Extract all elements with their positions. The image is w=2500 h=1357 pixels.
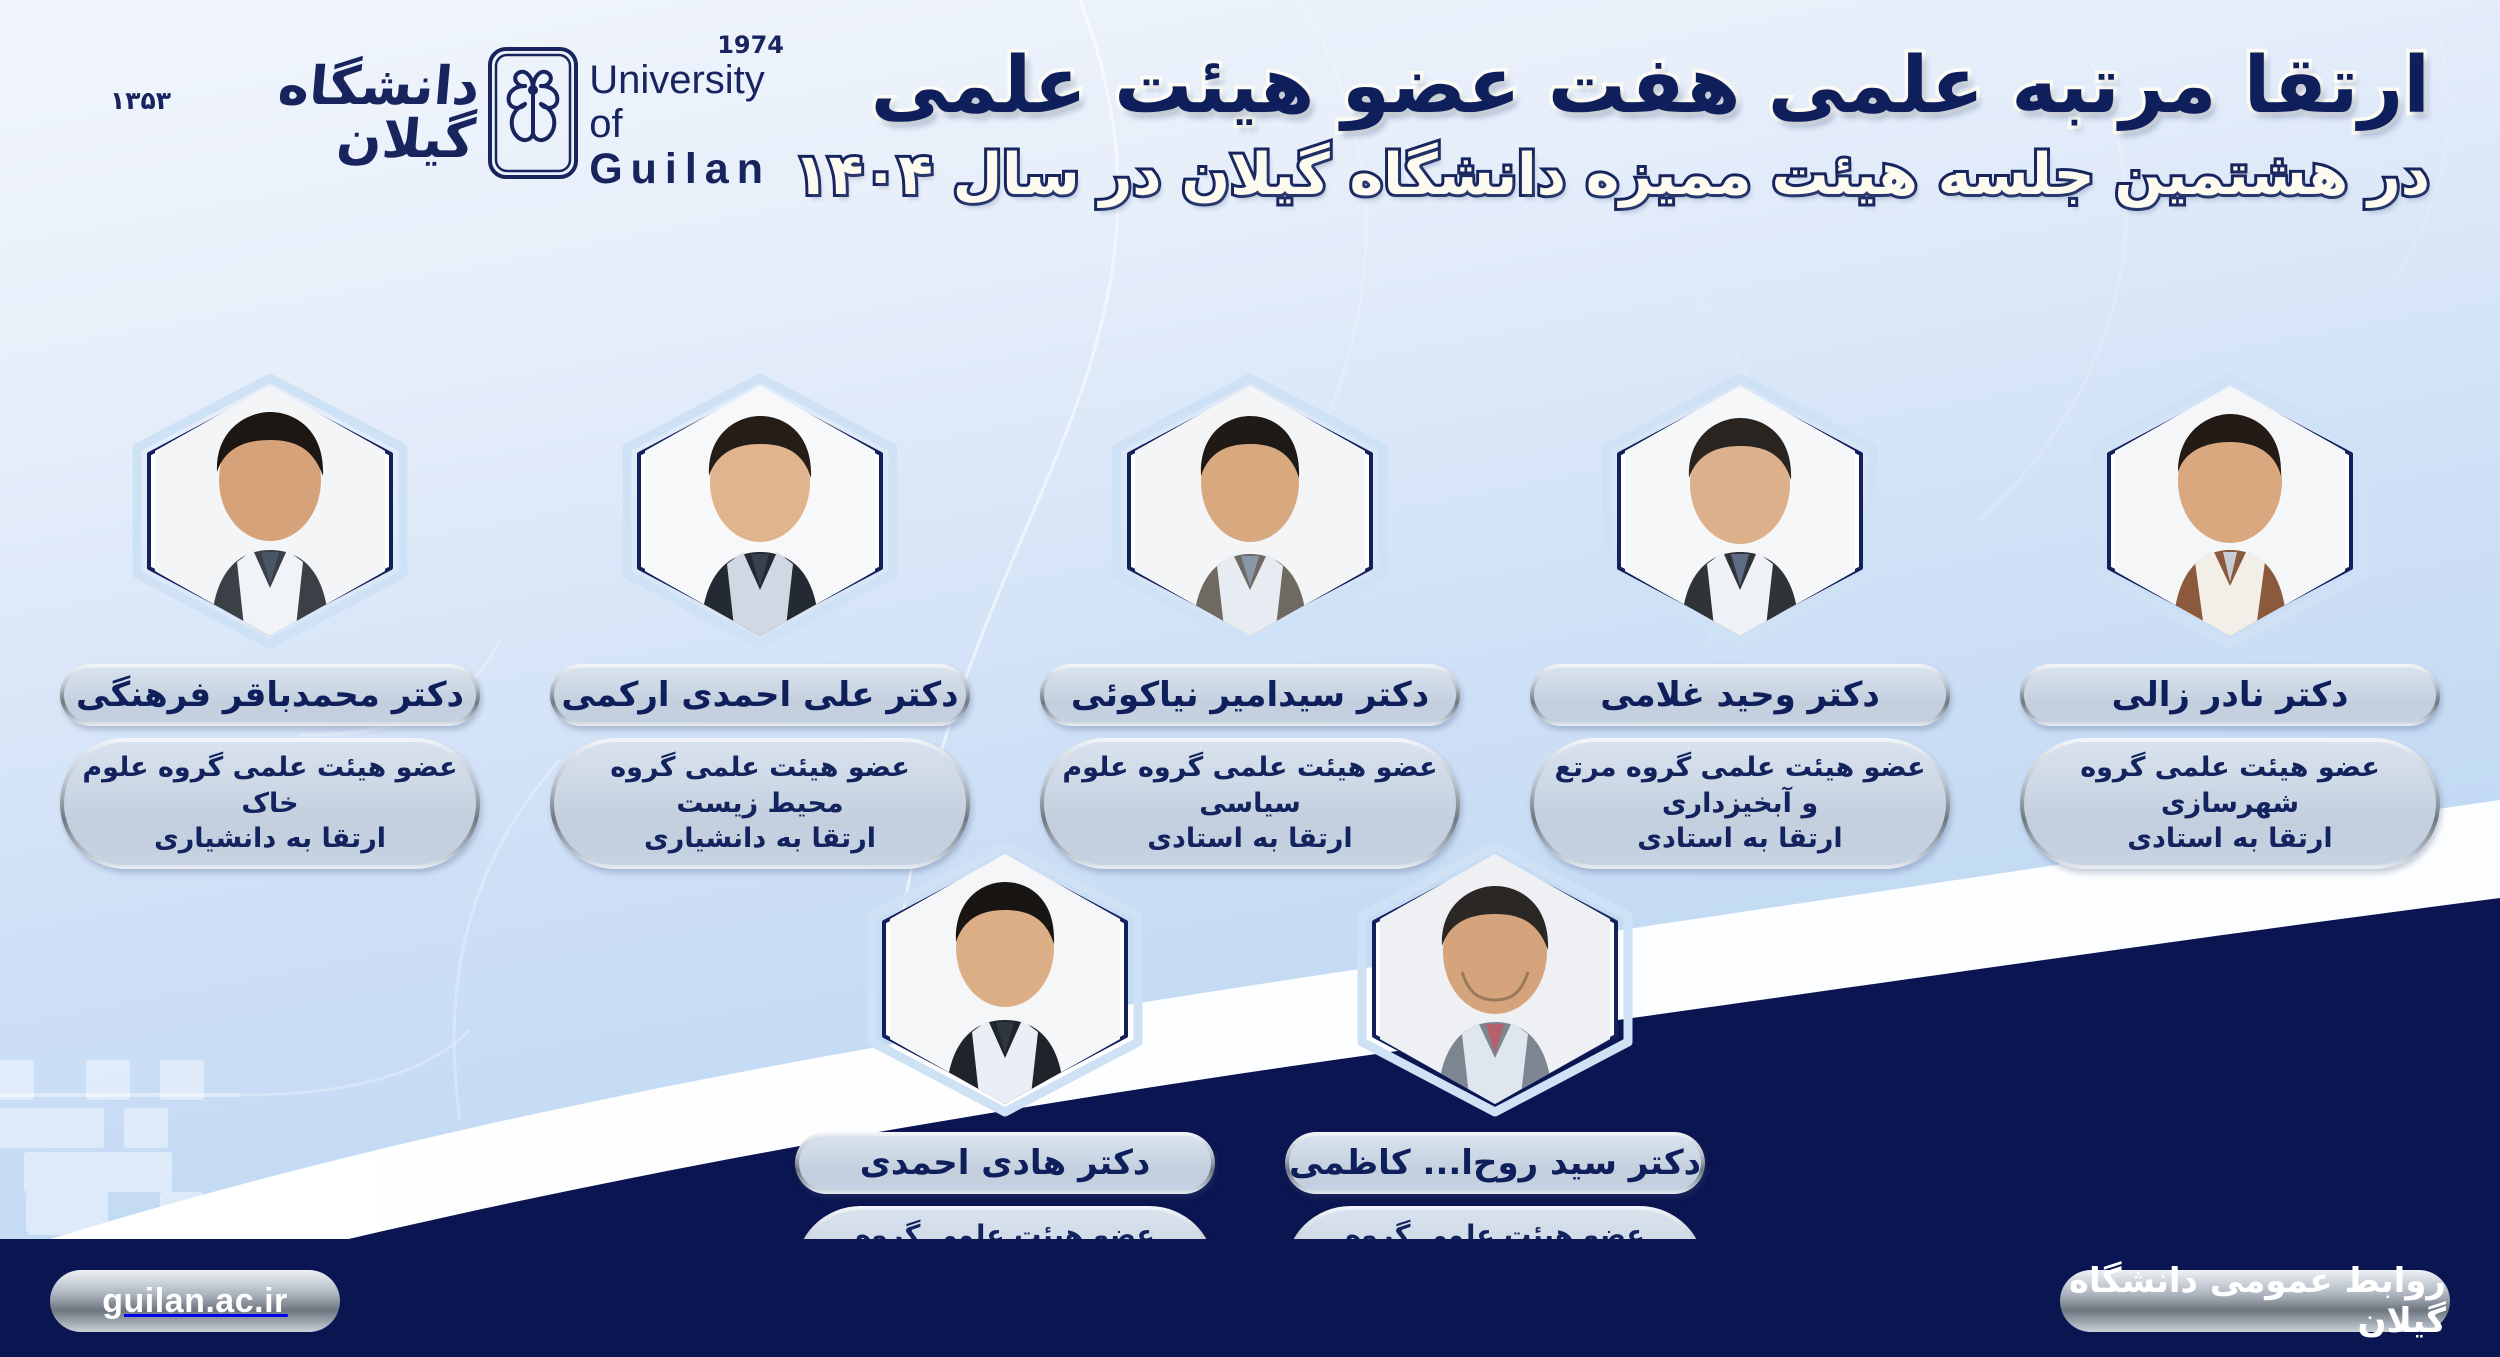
person-photo-frame (1350, 840, 1640, 1118)
person-card[interactable]: دکتر نادر زالی عضو هیئت علمی گروه شهرساز… (2010, 372, 2450, 869)
logo-english-line1: University of (589, 58, 784, 146)
person-photo-frame (2085, 372, 2375, 650)
person-name: دکتر نادر زالی (2112, 675, 2349, 715)
person-name-badge: دکتر نادر زالی (2020, 664, 2440, 726)
person-photo-frame (125, 372, 415, 650)
person-photo-frame (1595, 372, 1885, 650)
person-name-badge: دکتر محمدباقر فرهنگی (60, 664, 480, 726)
person-name: دکتر محمدباقر فرهنگی (76, 675, 464, 715)
person-photo-frame (615, 372, 905, 650)
person-card[interactable]: دکتر وحید غلامی عضو هیئت علمی گروه مرتع … (1520, 372, 1960, 869)
university-logo: دانشگاه گیلان ۱۳۵۳ 1974 University of Gu… (110, 38, 790, 188)
person-name: دکتر سید روح‌ا... کاظمی (1289, 1143, 1701, 1183)
person-name: دکتر وحید غلامی (1600, 675, 1880, 715)
logo-persian-name: دانشگاه گیلان (174, 60, 481, 166)
guilan-crest-icon (487, 46, 579, 180)
website-url-text: guilan.ac.ir (102, 1282, 288, 1321)
person-name: دکتر علی احمدی ارکمی (561, 675, 958, 715)
public-relations-badge: روابط عمومی دانشگاه گیلان (2060, 1270, 2450, 1332)
person-department: عضو هیئت علمی گروه شهرسازی (2038, 750, 2422, 821)
page-title: ارتقا مرتبه علمی هفت عضو هیئت علمی (794, 40, 2430, 132)
person-department: عضو هیئت علمی گروه محیط زیست (568, 750, 952, 821)
poster-canvas: دانشگاه گیلان ۱۳۵۳ 1974 University of Gu… (0, 0, 2500, 1357)
person-name-badge: دکتر وحید غلامی (1530, 664, 1950, 726)
person-name: دکتر سیدامیر نیاکوئی (1071, 675, 1429, 715)
person-photo-frame (860, 840, 1150, 1118)
logo-persian-year: ۱۳۵۳ (110, 86, 171, 115)
logo-english-line2: Guilan (589, 146, 771, 193)
website-link[interactable]: guilan.ac.ir (50, 1270, 340, 1332)
page-subtitle: در هشتمین جلسه هیئت ممیزه دانشگاه گیلان … (794, 140, 2430, 211)
person-card[interactable]: دکتر محمدباقر فرهنگی عضو هیئت علمی گروه … (50, 372, 490, 869)
person-name-badge: دکتر سید روح‌ا... کاظمی (1285, 1132, 1705, 1194)
person-department: عضو هیئت علمی گروه مرتع و آبخیزداری (1548, 750, 1932, 821)
person-card[interactable]: دکتر سیدامیر نیاکوئی عضو هیئت علمی گروه … (1030, 372, 1470, 869)
person-name-badge: دکتر سیدامیر نیاکوئی (1040, 664, 1460, 726)
public-relations-text: روابط عمومی دانشگاه گیلان (2064, 1261, 2446, 1341)
person-department: عضو هیئت علمی گروه علوم خاک (78, 750, 462, 821)
person-row-top: دکتر نادر زالی عضو هیئت علمی گروه شهرساز… (0, 372, 2500, 869)
logo-persian: دانشگاه گیلان ۱۳۵۳ (110, 60, 477, 166)
person-department: عضو هیئت علمی گروه علوم سیاسی (1058, 750, 1442, 821)
person-name: دکتر هادی احمدی (860, 1143, 1151, 1183)
logo-english: 1974 University of Guilan (589, 33, 784, 193)
logo-english-year: 1974 (717, 33, 784, 58)
person-card[interactable]: دکتر علی احمدی ارکمی عضو هیئت علمی گروه … (540, 372, 980, 869)
person-name-badge: دکتر علی احمدی ارکمی (550, 664, 970, 726)
person-name-badge: دکتر هادی احمدی (795, 1132, 1215, 1194)
person-photo-frame (1105, 372, 1395, 650)
poster-headings: ارتقا مرتبه علمی هفت عضو هیئت علمی در هش… (794, 40, 2430, 211)
